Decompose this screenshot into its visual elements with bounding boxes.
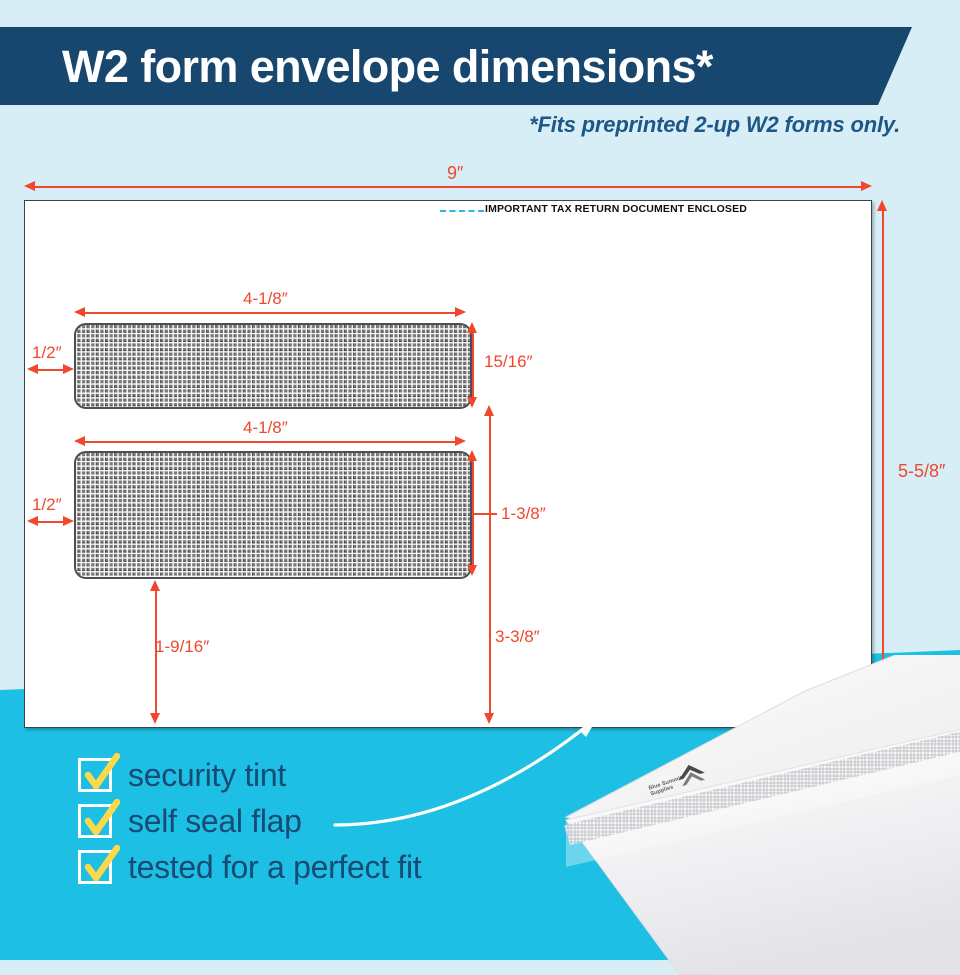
checklist-item-tested-for-perfect-fit[interactable]: tested for a perfect fit bbox=[78, 850, 421, 884]
dim-label-top-window-left-margin: 1/2″ bbox=[32, 343, 62, 363]
dashed-reference-line bbox=[440, 210, 484, 212]
infographic-canvas: W2 form envelope dimensions* *Fits prepr… bbox=[0, 0, 960, 960]
check-mark-icon bbox=[82, 845, 122, 889]
dim-label-overall-width: 9″ bbox=[447, 163, 463, 184]
feature-checklist: security tint self seal flap tested for … bbox=[78, 758, 421, 896]
dim-label-overall-height: 5-5/8″ bbox=[898, 461, 945, 482]
page-subtitle: *Fits preprinted 2-up W2 forms only. bbox=[0, 112, 900, 138]
dim-line-top-window-height bbox=[472, 332, 474, 400]
arrow-down-bottom-window-to-bottom bbox=[150, 713, 160, 724]
arrow-left-bottom-window-left-margin bbox=[27, 516, 38, 526]
arrow-right-bottom-window-width bbox=[455, 436, 466, 446]
dim-label-bottom-window-left-margin: 1/2″ bbox=[32, 495, 62, 515]
checkbox-icon[interactable] bbox=[78, 758, 112, 792]
header-banner: W2 form envelope dimensions* bbox=[0, 27, 912, 105]
top-window bbox=[74, 323, 472, 409]
dim-line-bottom-window-width bbox=[84, 441, 460, 443]
dim-line-overall-width bbox=[34, 186, 866, 188]
page-title: W2 form envelope dimensions* bbox=[62, 44, 713, 89]
envelope-printed-text: IMPORTANT TAX RETURN DOCUMENT ENCLOSED bbox=[485, 203, 747, 215]
arrow-right-top-window-width bbox=[455, 307, 466, 317]
arrow-down-top-window-height bbox=[467, 397, 477, 408]
arrow-up-top-window-height bbox=[467, 322, 477, 333]
arrow-up-overall-height bbox=[877, 200, 887, 211]
arrow-left-bottom-window-width bbox=[74, 436, 85, 446]
dim-label-bottom-window-to-bottom: 1-9/16″ bbox=[155, 637, 209, 657]
checkbox-icon[interactable] bbox=[78, 804, 112, 838]
dim-label-dashline-to-bottom: 3-3/8″ bbox=[495, 627, 540, 647]
arrow-up-dashline-to-bottom bbox=[484, 405, 494, 416]
check-mark-icon bbox=[82, 753, 122, 797]
dim-line-top-window-width bbox=[84, 312, 460, 314]
arrow-left-overall-width bbox=[24, 181, 35, 191]
check-mark-icon bbox=[82, 799, 122, 843]
arrow-right-overall-width bbox=[861, 181, 872, 191]
checklist-item-security-tint[interactable]: security tint bbox=[78, 758, 421, 792]
checklist-item-label: tested for a perfect fit bbox=[128, 851, 421, 883]
arrow-up-bottom-window-to-bottom bbox=[150, 580, 160, 591]
dim-line-dashline-to-bottom bbox=[489, 415, 491, 713]
checklist-item-self-seal-flap[interactable]: self seal flap bbox=[78, 804, 421, 838]
arrow-up-bottom-window-height bbox=[467, 450, 477, 461]
envelope-body bbox=[24, 200, 872, 728]
dim-line-overall-height bbox=[882, 210, 884, 718]
bottom-window bbox=[74, 451, 472, 579]
arrow-right-bottom-window-left-margin bbox=[63, 516, 74, 526]
arrow-down-bottom-window-height bbox=[467, 565, 477, 576]
arrow-right-top-window-left-margin bbox=[63, 364, 74, 374]
dim-label-top-window-height: 15/16″ bbox=[484, 352, 533, 372]
dim-leader-bottom-window-height bbox=[473, 513, 497, 515]
dim-label-top-window-width: 4-1/8″ bbox=[243, 289, 288, 309]
arrow-left-top-window-left-margin bbox=[27, 364, 38, 374]
dim-label-bottom-window-width: 4-1/8″ bbox=[243, 418, 288, 438]
checkbox-icon[interactable] bbox=[78, 850, 112, 884]
arrow-left-top-window-width bbox=[74, 307, 85, 317]
dim-label-bottom-window-height: 1-3/8″ bbox=[501, 504, 546, 524]
checklist-item-label: self seal flap bbox=[128, 805, 302, 837]
checklist-item-label: security tint bbox=[128, 759, 286, 791]
